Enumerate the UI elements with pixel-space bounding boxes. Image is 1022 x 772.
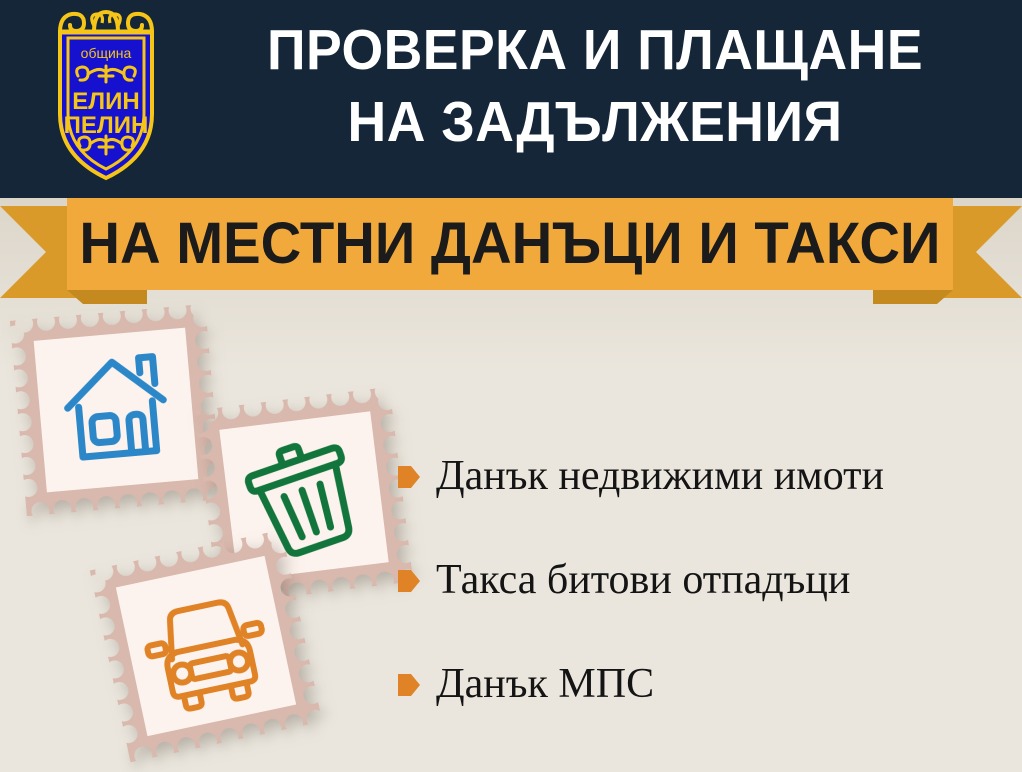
poster-canvas: Данък недвижими имоти Такса битови отпад… bbox=[0, 0, 1022, 772]
arrow-bullet-icon bbox=[398, 568, 420, 594]
ribbon-band: НА МЕСТНИ ДАНЪЦИ И ТАКСИ bbox=[67, 198, 953, 290]
list-item: Данък МПС bbox=[398, 632, 1008, 736]
ribbon-fold-left bbox=[67, 290, 147, 304]
list-item-label: Данък МПС bbox=[436, 661, 654, 707]
crest-word-line-1: ЕЛИН bbox=[72, 88, 139, 115]
arrow-bullet-icon bbox=[398, 672, 420, 698]
stamp-property bbox=[10, 304, 222, 516]
page-title-line-1: ПРОВЕРКА И ПЛАЩАНЕ bbox=[205, 14, 985, 86]
page-title: ПРОВЕРКА И ПЛАЩАНЕ НА ЗАДЪЛЖЕНИЯ bbox=[180, 14, 1010, 158]
list-item: Данък недвижими имоти bbox=[398, 424, 1008, 528]
page-title-line-2: НА ЗАДЪЛЖЕНИЯ bbox=[205, 86, 985, 158]
arrow-bullet-icon bbox=[398, 464, 420, 490]
crest-word-small: община bbox=[81, 45, 132, 61]
list-item-label: Такса битови отпадъци bbox=[436, 557, 850, 603]
crest-word-line-2: ПЕЛИН bbox=[64, 112, 149, 139]
list-item-label: Данък недвижими имоти bbox=[436, 453, 884, 499]
ribbon-label: НА МЕСТНИ ДАНЪЦИ И ТАКСИ bbox=[79, 215, 940, 273]
list-item: Такса битови отпадъци bbox=[398, 528, 1008, 632]
stamp-vehicle bbox=[90, 530, 322, 762]
ribbon-fold-right bbox=[873, 290, 953, 304]
subtitle-ribbon: НА МЕСТНИ ДАНЪЦИ И ТАКСИ bbox=[0, 198, 1022, 308]
municipality-crest: община ЕЛИН ПЕЛИН bbox=[44, 6, 168, 186]
tax-type-list: Данък недвижими имоти Такса битови отпад… bbox=[398, 424, 1008, 736]
